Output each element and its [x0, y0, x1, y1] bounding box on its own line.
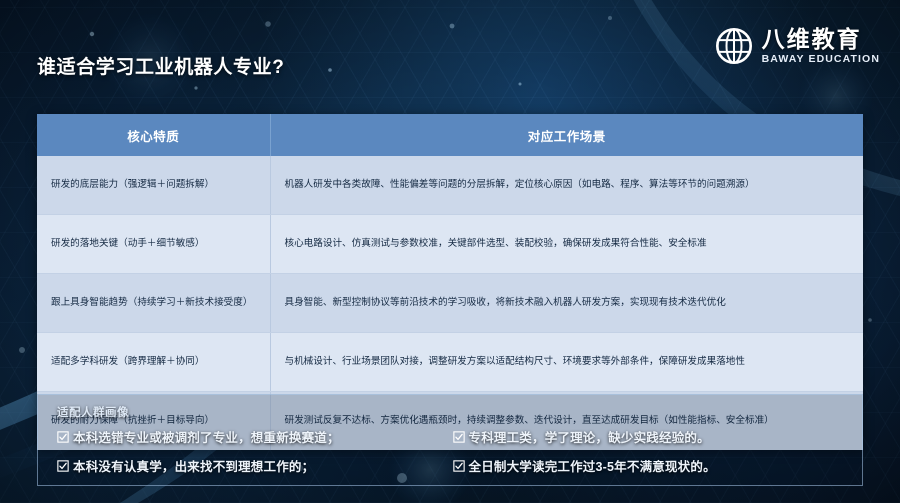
cell-work-scene: 核心电路设计、仿真测试与参数校准，关键部件选型、装配校验，确保研发成果符合性能、… [270, 215, 863, 274]
cell-core-trait: 适配多学科研发（跨界理解＋协同） [37, 333, 270, 392]
checklist-item[interactable]: 专科理工类，学了理论，缺少实践经验的。 [453, 427, 849, 446]
checklist-item-label: 专科理工类，学了理论，缺少实践经验的。 [469, 427, 710, 446]
logo-text-block: 八维教育 BAWAY EDUCATION [762, 28, 880, 65]
checklist-item[interactable]: 全日制大学读完工作过3-5年不满意现状的。 [453, 456, 849, 475]
audience-column-right: 专科理工类，学了理论，缺少实践经验的。 全日制大学读完工作过3-5年不满意现状的… [453, 427, 849, 475]
table-header: 核心特质 对应工作场景 [37, 114, 863, 156]
brand-logo: 八维教育 BAWAY EDUCATION [714, 26, 880, 66]
column-header-core-trait: 核心特质 [37, 114, 270, 156]
cell-work-scene: 机器人研发中各类故障、性能偏差等问题的分层拆解，定位核心原因（如电路、程序、算法… [270, 156, 863, 215]
table-row: 适配多学科研发（跨界理解＋协同） 与机械设计、行业场景团队对接，调整研发方案以适… [37, 333, 863, 392]
checklist-item-label: 本科没有认真学，出来找不到理想工作的； [73, 456, 314, 475]
globe-grid-icon [714, 26, 754, 66]
audience-panel-title: 适配人群画像 [57, 404, 129, 420]
checklist-item[interactable]: 本科没有认真学，出来找不到理想工作的； [57, 456, 453, 475]
audience-column-left: 本科选错专业或被调剂了专业，想重新换赛道； 本科没有认真学，出来找不到理想工作的… [57, 427, 453, 475]
column-header-work-scene: 对应工作场景 [270, 114, 863, 156]
cell-core-trait: 研发的底层能力（强逻辑＋问题拆解） [37, 156, 270, 215]
table-row: 跟上具身智能趋势（持续学习＋新技术接受度） 具身智能、新型控制协议等前沿技术的学… [37, 274, 863, 333]
cell-work-scene: 具身智能、新型控制协议等前沿技术的学习吸收，将新技术融入机器人研发方案，实现现有… [270, 274, 863, 333]
checkbox-checked-icon[interactable] [453, 431, 465, 443]
table-row: 研发的底层能力（强逻辑＋问题拆解） 机器人研发中各类故障、性能偏差等问题的分层拆… [37, 156, 863, 215]
table-header-row: 核心特质 对应工作场景 [37, 114, 863, 156]
checkbox-checked-icon[interactable] [57, 460, 69, 472]
table-row: 研发的落地关键（动手＋细节敏感） 核心电路设计、仿真测试与参数校准，关键部件选型… [37, 215, 863, 274]
cell-core-trait: 研发的落地关键（动手＋细节敏感） [37, 215, 270, 274]
logo-title-cn: 八维教育 [762, 28, 880, 51]
cell-work-scene: 与机械设计、行业场景团队对接，调整研发方案以适配结构尺寸、环境要求等外部条件，保… [270, 333, 863, 392]
logo-title-en: BAWAY EDUCATION [762, 54, 880, 65]
checklist-item-label: 全日制大学读完工作过3-5年不满意现状的。 [469, 456, 716, 475]
cell-core-trait: 跟上具身智能趋势（持续学习＋新技术接受度） [37, 274, 270, 333]
checklist-item-label: 本科选错专业或被调剂了专业，想重新换赛道； [73, 427, 340, 446]
audience-columns: 本科选错专业或被调剂了专业，想重新换赛道； 本科没有认真学，出来找不到理想工作的… [57, 427, 848, 475]
slide-root: 谁适合学习工业机器人专业? 八维教育 BAWAY EDUCATION 核心特质 … [0, 0, 900, 503]
checklist-item[interactable]: 本科选错专业或被调剂了专业，想重新换赛道； [57, 427, 453, 446]
checkbox-checked-icon[interactable] [57, 431, 69, 443]
checkbox-checked-icon[interactable] [453, 460, 465, 472]
audience-panel: 适配人群画像 本科选错专业或被调剂了专业，想重新换赛道； 本科没有认真学，出来找… [37, 394, 863, 486]
page-title: 谁适合学习工业机器人专业? [37, 52, 284, 79]
